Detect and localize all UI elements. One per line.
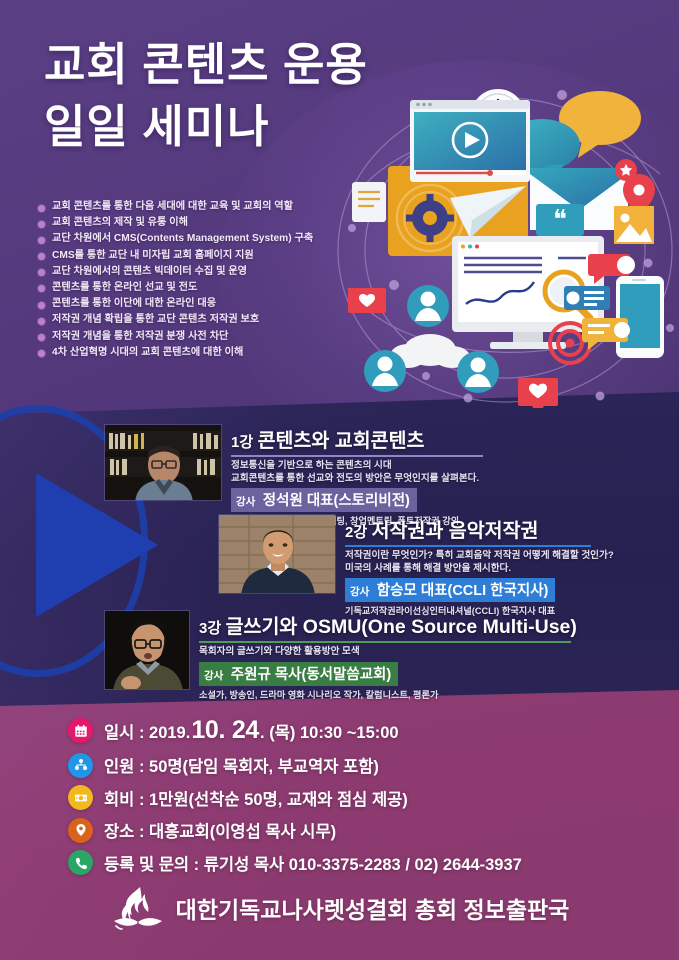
bullet-dot-icon [38,302,45,309]
digital-content-illustration: ❝ [330,78,679,408]
bullet-label: 저작권 개념을 통한 저작권 분쟁 사전 차단 [52,330,228,343]
money-icon [68,785,93,810]
session-2-speaker-name: 함승모 대표(CCLI 한국지사) [377,583,549,599]
instructor-photo-3 [104,610,190,690]
session-3-speaker-label: 강사 [204,670,223,682]
session-2-number: 2강 [345,524,367,541]
list-item: 교회 콘텐츠를 통한 다음 세대에 대한 교육 및 교회의 역할 [38,200,368,213]
session-1-title-text: 콘텐츠와 교회콘텐츠 [258,430,425,452]
session-1-rule [231,455,483,457]
svg-text:❝: ❝ [553,205,567,234]
illustration-svg: ❝ [330,78,679,408]
bullet-dot-icon [38,285,45,292]
image-thumbnail-icon [614,206,654,244]
list-item: CMS를 통한 교단 내 미자립 교회 홈페이지 지원 [38,249,368,262]
session-2-rule [345,545,591,547]
money-glyph [74,791,88,805]
session-3-body: 3강 글쓰기와 OSMU(One Source Multi-Use) 목회자의 … [190,610,577,701]
instructor-photo-1 [104,424,222,501]
phone-glyph [74,856,88,870]
session-list: 1강 콘텐츠와 교회콘텐츠 정보통신을 기반으로 하는 콘텐츠의 시대 교회콘텐… [0,410,679,690]
footer-organization-name: 대한기독교나사렛성결회 총회 정보출판국 [176,891,570,925]
bullet-dot-icon [38,205,45,212]
info-row-date: 일시 : 2019. 10. 24 . (목) 10:30 ~15:00 [68,716,522,745]
title-line-2: 일일 세미나 [44,96,368,158]
people-glyph [74,758,88,772]
calendar-glyph [74,724,88,738]
info-contact-text: 등록 및 문의 : 류기성 목사 010-3375-2283 / 02) 264… [104,851,522,875]
info-row-contact: 등록 및 문의 : 류기성 목사 010-3375-2283 / 02) 264… [68,850,522,875]
session-3-desc-1: 목회자의 글쓰기와 다양한 활용방안 모색 [199,646,577,659]
session-1-desc-2: 교회콘텐츠를 통한 선교와 전도의 방안은 무엇인지를 살펴본다. [231,473,483,486]
session-3-rule [199,641,571,643]
bullet-dot-icon [38,318,45,325]
session-1-desc-1: 정보통신을 기반으로 하는 콘텐츠의 시대 [231,460,483,473]
session-2-desc-2: 미국의 사례를 통해 해결 방안을 제시한다. [345,563,614,576]
info-row-capacity: 인원 : 50명(담임 목회자, 부교역자 포함) [68,753,522,778]
open-book-shape [114,918,162,929]
photo-3-art [105,611,190,690]
bullet-dot-icon [38,350,45,357]
info-date-post: . (목) 10:30 ~15:00 [260,719,399,743]
bullet-dot-icon [38,269,45,276]
bullet-label: 교회 콘텐츠를 통한 다음 세대에 대한 교육 및 교회의 역할 [52,200,293,213]
session-2-desc-1: 저작권이란 무엇인가? 특히 교회음악 저작권 어떻게 해결할 것인가? [345,550,614,563]
list-item: 콘텐츠를 통한 온라인 선교 및 전도 [38,281,368,294]
seminar-poster: ❝ [0,0,679,960]
calendar-icon [68,718,93,743]
location-pin-glyph [74,823,88,837]
bullet-label: 콘텐츠를 통한 온라인 선교 및 전도 [52,281,197,294]
photo-2-art [219,515,336,594]
location-pin-icon [68,818,93,843]
info-row-fee: 회비 : 1만원(선착순 50명, 교재와 점심 제공) [68,785,522,810]
bullet-label: 교단 차원에서의 콘텐츠 빅데이터 수집 및 운영 [52,265,247,278]
session-3-bio: 소설가, 방송인, 드라마 영화 시나리오 작가, 칼럼니스트, 평론가 [199,689,577,701]
session-3-title-text: 글쓰기와 OSMU(One Source Multi-Use) [226,616,577,638]
info-capacity-text: 인원 : 50명(담임 목회자, 부교역자 포함) [104,753,379,777]
session-2-title: 2강 저작권과 음악저작권 [345,514,614,543]
bullet-label: 저작권 개념 확립을 통한 교단 콘텐츠 저작권 보호 [52,313,259,326]
people-icon [68,753,93,778]
avatar-icon-3 [457,351,499,393]
video-player-window [410,100,530,182]
session-1-title: 1강 콘텐츠와 교회콘텐츠 [231,424,483,453]
session-3-speaker-name: 주원규 목사(동서말씀교회) [231,667,391,683]
session-2-speaker: 강사 함승모 대표(CCLI 한국지사) [345,578,555,602]
list-item: 저작권 개념을 통한 저작권 분쟁 사전 차단 [38,330,368,343]
avatar-icon-1 [407,285,449,327]
session-item-3: 3강 글쓰기와 OSMU(One Source Multi-Use) 목회자의 … [104,610,577,701]
session-1-speaker: 강사 정석원 대표(스토리비전) [231,488,417,512]
logo-glyph [110,885,166,931]
bullet-dot-icon [38,237,45,244]
bullet-dot-icon [38,253,45,260]
instructor-photo-2 [218,514,336,594]
chat-bubble-blue-icon [564,286,610,310]
session-2-title-text: 저작권과 음악저작권 [372,520,539,542]
list-item: 4차 산업혁명 시대의 교회 콘텐츠에 대한 이해 [38,346,368,359]
session-item-1: 1강 콘텐츠와 교회콘텐츠 정보통신을 기반으로 하는 콘텐츠의 시대 교회콘텐… [104,424,483,527]
bullet-label: 4차 산업혁명 시대의 교회 콘텐츠에 대한 이해 [52,346,243,359]
flame-shape [121,887,148,922]
list-item: 콘텐츠를 통한 이단에 대한 온라인 대응 [38,297,368,310]
bullet-label: 교회 콘텐츠의 제작 및 유통 이해 [52,216,188,229]
bullet-label: CMS를 통한 교단 내 미자립 교회 홈페이지 지원 [52,249,254,262]
nazarene-flame-book-logo-icon [110,885,166,931]
event-details-list: 일시 : 2019. 10. 24 . (목) 10:30 ~15:00 인원 … [68,716,522,883]
bullet-dot-icon [38,334,45,341]
list-item: 저작권 개념 확립을 통한 교단 콘텐츠 저작권 보호 [38,313,368,326]
phone-icon [68,850,93,875]
list-item: 교단 차원에서의 콘텐츠 빅데이터 수집 및 운영 [38,265,368,278]
poster-title: 교회 콘텐츠 운용 일일 세미나 [44,34,368,158]
footer: 대한기독교나사렛성결회 총회 정보출판국 [0,885,679,931]
info-row-location: 장소 : 대흥교회(이영섭 목사 시무) [68,818,522,843]
like-heart-badge-2 [518,378,558,408]
session-3-title: 3강 글쓰기와 OSMU(One Source Multi-Use) [199,610,577,639]
list-item: 교단 차원에서 CMS(Contents Management System) … [38,232,368,245]
info-location-text: 장소 : 대흥교회(이영섭 목사 시무) [104,818,336,842]
session-1-speaker-label: 강사 [236,496,255,508]
list-item: 교회 콘텐츠의 제작 및 유통 이해 [38,216,368,229]
session-item-2: 2강 저작권과 음악저작권 저작권이란 무엇인가? 특히 교회음악 저작권 어떻… [218,514,614,617]
photo-1-art [105,425,222,501]
title-line-1: 교회 콘텐츠 운용 [44,34,368,96]
info-date-big: 10. 24 [191,716,259,745]
info-date-pre: 일시 : 2019. [104,719,190,743]
session-3-speaker: 강사 주원규 목사(동서말씀교회) [199,662,398,686]
session-2-body: 2강 저작권과 음악저작권 저작권이란 무엇인가? 특히 교회음악 저작권 어떻… [336,514,614,617]
bullet-label: 콘텐츠를 통한 이단에 대한 온라인 대응 [52,297,216,310]
bullet-dot-icon [38,221,45,228]
info-date-text: 일시 : 2019. 10. 24 . (목) 10:30 ~15:00 [104,716,399,745]
session-3-number: 3강 [199,620,221,637]
topic-bullet-list: 교회 콘텐츠를 통한 다음 세대에 대한 교육 및 교회의 역할 교회 콘텐츠의… [38,200,368,362]
session-2-speaker-label: 강사 [350,586,369,598]
session-1-number: 1강 [231,434,253,451]
info-fee-text: 회비 : 1만원(선착순 50명, 교재와 점심 제공) [104,786,408,810]
smartphone-icon [616,276,664,358]
session-1-speaker-name: 정석원 대표(스토리비전) [263,493,410,509]
session-1-body: 1강 콘텐츠와 교회콘텐츠 정보통신을 기반으로 하는 콘텐츠의 시대 교회콘텐… [222,424,483,527]
avatar-icon-2 [364,350,406,392]
bullet-label: 교단 차원에서 CMS(Contents Management System) … [52,232,313,245]
